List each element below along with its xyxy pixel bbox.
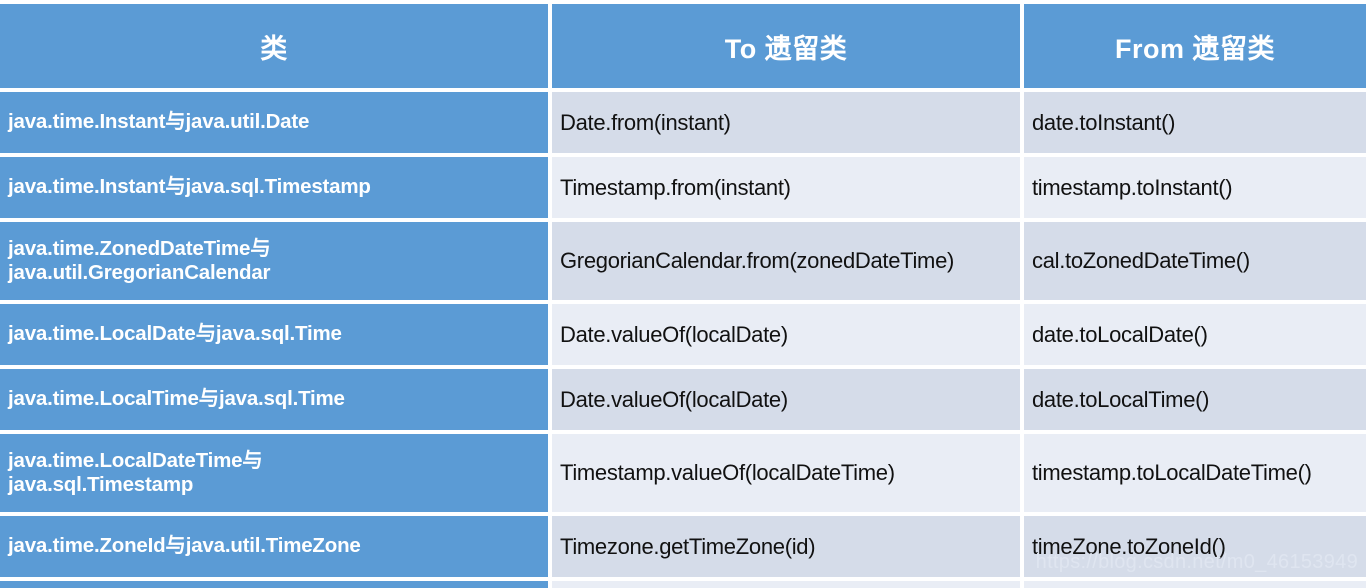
table-container: 类 To 遗留类 From 遗留类 java.time.Instant与java… — [0, 0, 1366, 588]
cell-class: java.time.LocalDateTime与 java.sql.Timest… — [0, 434, 552, 512]
cell-to-legacy: GregorianCalendar.from(zonedDateTime) — [552, 222, 1024, 300]
cell-class: java.time.Instant与java.util.Date — [0, 92, 552, 153]
cell-class-line1: java.time.ZonedDateTime与 — [8, 237, 271, 260]
column-header-to-legacy: To 遗留类 — [552, 4, 1024, 88]
cell-class: java.time.LocalTime与java.sql.Time — [0, 369, 552, 430]
cell-to-legacy: Date.valueOf(localDate) — [552, 304, 1024, 365]
column-header-from-legacy: From 遗留类 — [1024, 4, 1366, 88]
table-header: 类 To 遗留类 From 遗留类 — [0, 4, 1366, 88]
table-row: java.time.LocalDate与java.sql.Time Date.v… — [0, 304, 1366, 365]
table-row: java.time.Instant与java.util.Date Date.fr… — [0, 92, 1366, 153]
cell-from-legacy: cal.toZonedDateTime() — [1024, 222, 1366, 300]
cell-to-legacy: Timestamp.from(instant) — [552, 157, 1024, 218]
cell-class: java.time.Instant与java.sql.Timestamp — [0, 157, 552, 218]
cell-class-line1: java.time.ZoneId与java.util.TimeZone — [8, 534, 361, 557]
cell-class: java.time.LocalDate与java.sql.Time — [0, 304, 552, 365]
table-row: java.time.LocalDateTime与 java.sql.Timest… — [0, 434, 1366, 512]
cell-class-line2: java.util.GregorianCalendar — [8, 261, 538, 285]
cell-class-line1: java.time.Instant与java.sql.Timestamp — [8, 175, 371, 198]
table-body: java.time.Instant与java.util.Date Date.fr… — [0, 92, 1366, 588]
cell-to-legacy: formatter.toFormat() — [552, 581, 1024, 588]
cell-from-legacy: 无 — [1024, 581, 1366, 588]
cell-class-line1: java.time.Instant与java.util.Date — [8, 110, 309, 133]
table-row: java.time.LocalTime与java.sql.Time Date.v… — [0, 369, 1366, 430]
java-time-conversion-table: 类 To 遗留类 From 遗留类 java.time.Instant与java… — [0, 0, 1366, 588]
header-row: 类 To 遗留类 From 遗留类 — [0, 4, 1366, 88]
cell-from-legacy: date.toLocalDate() — [1024, 304, 1366, 365]
cell-class-line1: java.time.LocalTime与java.sql.Time — [8, 387, 345, 410]
column-header-class: 类 — [0, 4, 552, 88]
cell-class-line1: java.time.LocalDate与java.sql.Time — [8, 322, 342, 345]
cell-to-legacy: Date.from(instant) — [552, 92, 1024, 153]
cell-class-line1: java.time.LocalDateTime与 — [8, 449, 263, 472]
cell-from-legacy: date.toInstant() — [1024, 92, 1366, 153]
cell-to-legacy: Timestamp.valueOf(localDateTime) — [552, 434, 1024, 512]
cell-to-legacy: Timezone.getTimeZone(id) — [552, 516, 1024, 577]
cell-to-legacy: Date.valueOf(localDate) — [552, 369, 1024, 430]
cell-from-legacy: timestamp.toLocalDateTime() — [1024, 434, 1366, 512]
table-row: java.time.Instant与java.sql.Timestamp Tim… — [0, 157, 1366, 218]
cell-class-line2: java.sql.Timestamp — [8, 473, 538, 497]
cell-class: java.time.format.DateTimeFormatter与 java… — [0, 581, 552, 588]
cell-from-legacy: timeZone.toZoneId() — [1024, 516, 1366, 577]
table-row: java.time.format.DateTimeFormatter与 java… — [0, 581, 1366, 588]
table-row: java.time.ZoneId与java.util.TimeZone Time… — [0, 516, 1366, 577]
table-row: java.time.ZonedDateTime与 java.util.Grego… — [0, 222, 1366, 300]
cell-from-legacy: timestamp.toInstant() — [1024, 157, 1366, 218]
cell-class: java.time.ZoneId与java.util.TimeZone — [0, 516, 552, 577]
cell-class: java.time.ZonedDateTime与 java.util.Grego… — [0, 222, 552, 300]
cell-from-legacy: date.toLocalTime() — [1024, 369, 1366, 430]
